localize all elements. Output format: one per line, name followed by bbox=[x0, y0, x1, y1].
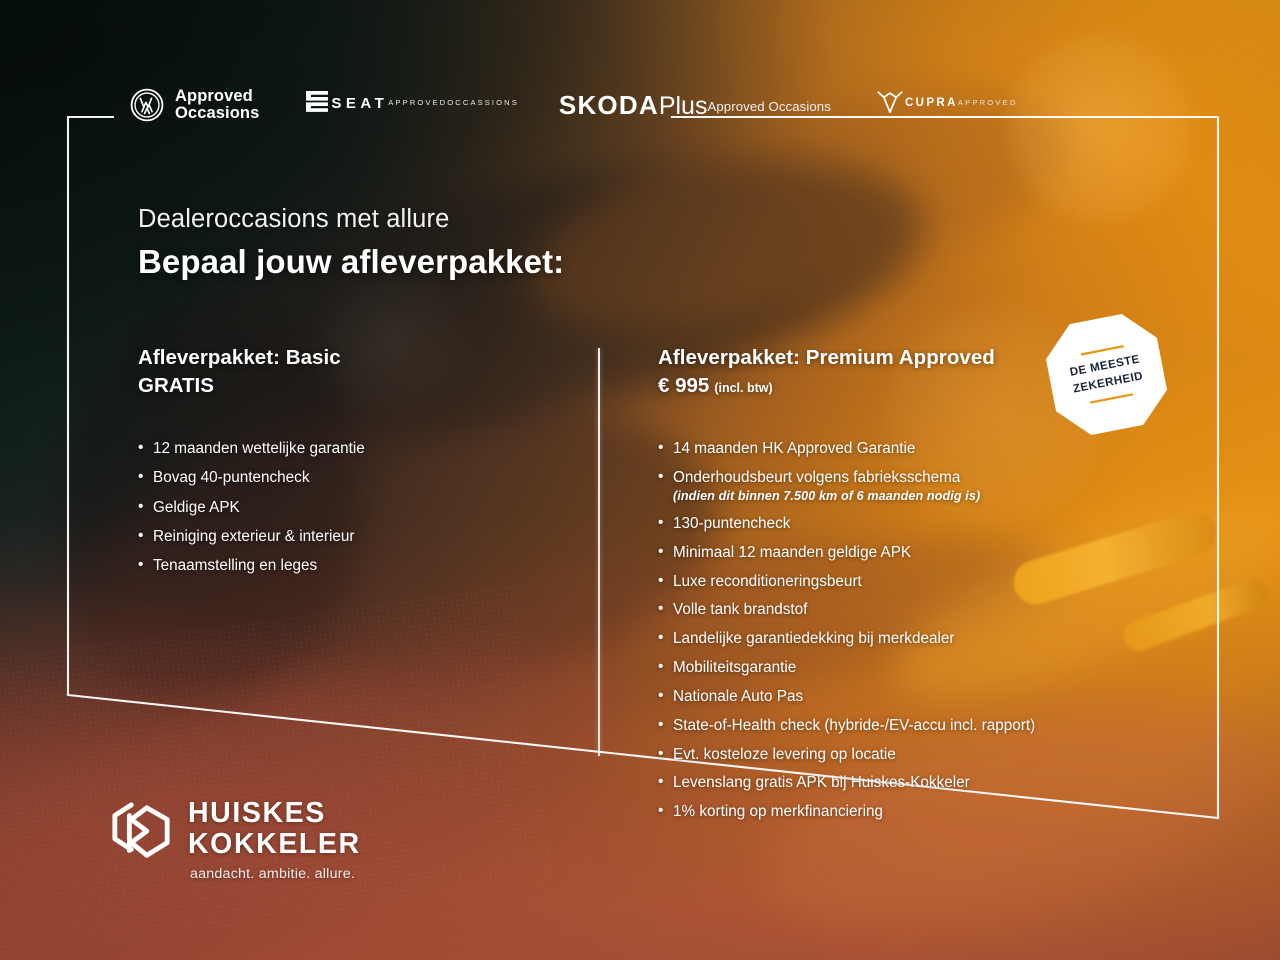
feature-item: State-of-Health check (hybride-/EV-accu … bbox=[658, 717, 1158, 735]
feature-text: Reiniging exterieur & interieur bbox=[153, 528, 355, 545]
seal-octagon-icon bbox=[1044, 312, 1169, 437]
column-divider bbox=[598, 348, 600, 756]
feature-text: Evt. kosteloze levering op locatie bbox=[673, 746, 896, 763]
seat-s-icon bbox=[303, 89, 331, 115]
feature-text: Tenaamstelling en leges bbox=[153, 557, 317, 574]
feature-text: Nationale Auto Pas bbox=[673, 688, 803, 705]
feature-item: Onderhoudsbeurt volgens fabrieksschema (… bbox=[658, 469, 1158, 504]
vw-label-line2: Occasions bbox=[175, 105, 259, 122]
feature-item: Landelijke garantiedekking bij merkdeale… bbox=[658, 630, 1158, 648]
feature-note: (indien dit binnen 7.500 km of 6 maanden… bbox=[673, 489, 1158, 504]
feature-item: Bovag 40-puntencheck bbox=[138, 469, 568, 487]
brand-logo-strip: Approved Occasions SEAT APPROVED OCCASSI… bbox=[130, 88, 1018, 158]
feature-item: Luxe reconditioneringsbeurt bbox=[658, 573, 1158, 591]
headline-kicker: Dealeroccasions met allure bbox=[138, 205, 564, 234]
hk-wordmark: HUISKES KOKKELER aandacht. ambitie. allu… bbox=[188, 798, 361, 882]
most-certainty-seal: DE MEESTE ZEKERHEID bbox=[1044, 312, 1169, 437]
cupra-tribal-icon bbox=[875, 89, 905, 115]
feature-item: Reiniging exterieur & interieur bbox=[138, 528, 568, 546]
feature-text: Landelijke garantiedekking bij merkdeale… bbox=[673, 630, 954, 647]
feature-text: 14 maanden HK Approved Garantie bbox=[673, 440, 915, 457]
skoda-sub-label: Approved Occasions bbox=[707, 99, 830, 114]
feature-item: Levenslang gratis APK bij Huiskes-Kokkel… bbox=[658, 774, 1158, 792]
cupra-sub-label: APPROVED bbox=[958, 98, 1018, 107]
headline-title: Bepaal jouw afleverpakket: bbox=[138, 243, 564, 281]
feature-text: 1% korting op merkfinanciering bbox=[673, 803, 883, 820]
brand-seat: SEAT APPROVED OCCASSIONS bbox=[303, 88, 519, 115]
seat-sub-line2: OCCASSIONS bbox=[447, 97, 519, 108]
feature-item: Minimaal 12 maanden geldige APK bbox=[658, 544, 1158, 562]
feature-text: Onderhoudsbeurt volgens fabrieksschema bbox=[673, 469, 960, 486]
feature-item: Evt. kosteloze levering op locatie bbox=[658, 746, 1158, 764]
hk-hexagon-monogram-icon bbox=[110, 800, 172, 866]
seat-sub-line1: APPROVED bbox=[388, 97, 447, 108]
huiskes-kokkeler-logo: HUISKES KOKKELER aandacht. ambitie. allu… bbox=[110, 798, 361, 882]
feature-list-basic: 12 maanden wettelijke garantie Bovag 40-… bbox=[138, 440, 568, 576]
feature-item: 12 maanden wettelijke garantie bbox=[138, 440, 568, 458]
feature-text: State-of-Health check (hybride-/EV-accu … bbox=[673, 717, 1035, 734]
feature-text: 130-puntencheck bbox=[673, 515, 790, 532]
feature-item: Geldige APK bbox=[138, 499, 568, 517]
feature-text: Mobiliteitsgarantie bbox=[673, 659, 796, 676]
hk-tagline: aandacht. ambitie. allure. bbox=[190, 866, 361, 882]
package-price-basic: GRATIS bbox=[138, 374, 568, 398]
skoda-plus-label: Plus bbox=[659, 92, 708, 120]
feature-item: Volle tank brandstof bbox=[658, 601, 1158, 619]
hk-name-line2: KOKKELER bbox=[188, 829, 361, 860]
package-name-basic: Afleverpakket: Basic bbox=[138, 344, 568, 371]
hk-name-line1: HUISKES bbox=[188, 798, 361, 829]
feature-item: Mobiliteitsgarantie bbox=[658, 659, 1158, 677]
price-vat-note: (incl. btw) bbox=[714, 381, 772, 395]
feature-text: Volle tank brandstof bbox=[673, 601, 807, 618]
feature-text: Levenslang gratis APK bij Huiskes-Kokkel… bbox=[673, 774, 970, 791]
price-amount: € 995 bbox=[658, 374, 709, 397]
feature-text: 12 maanden wettelijke garantie bbox=[153, 440, 365, 457]
vw-roundel-icon bbox=[130, 88, 164, 122]
promo-banner: Approved Occasions SEAT APPROVED OCCASSI… bbox=[0, 0, 1280, 960]
headline-block: Dealeroccasions met allure Bepaal jouw a… bbox=[138, 205, 564, 281]
feature-item: 1% korting op merkfinanciering bbox=[658, 803, 1158, 821]
cupra-wordmark: CUPRA bbox=[905, 97, 958, 109]
brand-skoda: SKODAPlus Approved Occasions bbox=[559, 88, 831, 119]
feature-item: 130-puntencheck bbox=[658, 515, 1158, 533]
brand-cupra: CUPRA APPROVED bbox=[875, 88, 1018, 115]
feature-text: Geldige APK bbox=[153, 499, 240, 516]
seat-wordmark: SEAT bbox=[331, 95, 388, 112]
package-card-basic: Afleverpakket: Basic GRATIS 12 maanden w… bbox=[138, 344, 568, 587]
feature-item: Tenaamstelling en leges bbox=[138, 557, 568, 575]
feature-list-premium: 14 maanden HK Approved Garantie Onderhou… bbox=[658, 440, 1158, 822]
skoda-wordmark: SKODA bbox=[559, 90, 659, 120]
feature-text: Minimaal 12 maanden geldige APK bbox=[673, 544, 911, 561]
feature-text: Luxe reconditioneringsbeurt bbox=[673, 573, 862, 590]
feature-text: Bovag 40-puntencheck bbox=[153, 469, 309, 486]
feature-item: Nationale Auto Pas bbox=[658, 688, 1158, 706]
brand-volkswagen: Approved Occasions bbox=[130, 88, 259, 123]
vw-label-line1: Approved bbox=[175, 88, 259, 105]
feature-item: 14 maanden HK Approved Garantie bbox=[658, 440, 1158, 458]
